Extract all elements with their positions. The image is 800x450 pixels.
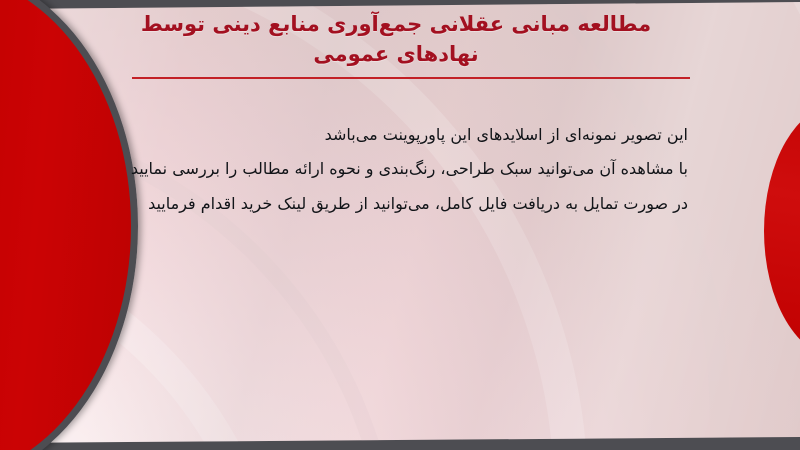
body-line-1: این تصویر نمونه‌ای از اسلایدهای این پاور…: [88, 118, 688, 152]
body-line-2: با مشاهده آن می‌توانید سبک طراحی، رنگ‌بن…: [88, 152, 688, 186]
body-line-3: در صورت تمایل به دریافت فایل کامل، می‌تو…: [88, 187, 688, 221]
slide-title: مطالعه مبانی عقلانی جمع‌آوری منابع دینی …: [100, 10, 692, 70]
slide-body: این تصویر نمونه‌ای از اسلایدهای این پاور…: [88, 118, 688, 221]
slide-title-text: مطالعه مبانی عقلانی جمع‌آوری منابع دینی …: [100, 10, 692, 70]
presentation-slide: مطالعه مبانی عقلانی جمع‌آوری منابع دینی …: [0, 0, 800, 450]
title-divider-rule: [132, 77, 690, 79]
